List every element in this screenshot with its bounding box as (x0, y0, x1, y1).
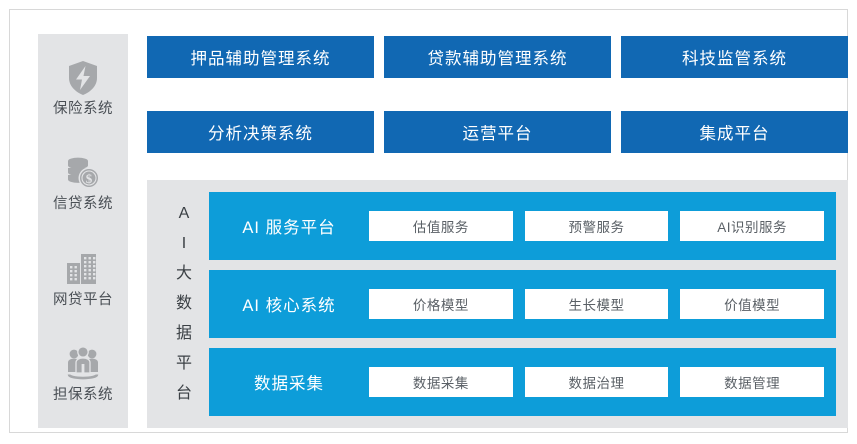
svg-text:$: $ (86, 171, 93, 186)
sidebar-item-label: 保险系统 (53, 102, 113, 118)
buildings-icon (63, 249, 103, 289)
vertical-char: 台 (176, 386, 192, 402)
sidebar-item-insurance[interactable]: 保险系统 (38, 58, 128, 118)
ai-platform-rows: AI 服务平台 估值服务 预警服务 AI识别服务 AI 核心系统 价格模型 生长… (209, 192, 836, 416)
system-button-collateral-aux-mgmt[interactable]: 押品辅助管理系统 (147, 36, 374, 78)
system-button-tech-supervision[interactable]: 科技监管系统 (621, 36, 848, 78)
ai-row-core-system[interactable]: AI 核心系统 价格模型 生长模型 价值模型 (209, 270, 836, 338)
shield-bolt-icon (63, 58, 103, 98)
ai-row-title: AI 服务平台 (209, 214, 369, 238)
sidebar: 保险系统 $ (38, 34, 128, 428)
system-button-loan-aux-mgmt[interactable]: 贷款辅助管理系统 (384, 36, 611, 78)
ai-row-box-group: 价格模型 生长模型 价值模型 (369, 289, 824, 319)
vertical-char: 大 (176, 266, 192, 282)
ai-sub-box-ai-recognition-service[interactable]: AI识别服务 (680, 211, 824, 241)
coin-stack-icon: $ (63, 153, 103, 193)
ai-sub-box-growth-model[interactable]: 生长模型 (525, 289, 669, 319)
sidebar-item-label: 信贷系统 (53, 197, 113, 213)
sidebar-item-credit[interactable]: $ 信贷系统 (38, 153, 128, 213)
ai-sub-box-data-governance[interactable]: 数据治理 (525, 367, 669, 397)
architecture-diagram: 保险系统 $ (0, 0, 857, 444)
ai-row-service-platform[interactable]: AI 服务平台 估值服务 预警服务 AI识别服务 (209, 192, 836, 260)
vertical-char: I (182, 236, 186, 252)
ai-platform-vertical-label: A I 大 数 据 平 台 (159, 192, 209, 416)
vertical-char: 数 (176, 296, 192, 312)
ai-sub-box-value-model[interactable]: 价值模型 (680, 289, 824, 319)
ai-row-title: 数据采集 (209, 370, 369, 394)
system-button-operations-platform[interactable]: 运营平台 (384, 111, 611, 153)
sidebar-item-guarantee[interactable]: 担保系统 (38, 344, 128, 404)
ai-sub-box-data-collection[interactable]: 数据采集 (369, 367, 513, 397)
system-button-row-1: 押品辅助管理系统 贷款辅助管理系统 科技监管系统 (147, 36, 848, 78)
vertical-char: 平 (176, 356, 192, 372)
ai-row-data-collection[interactable]: 数据采集 数据采集 数据治理 数据管理 (209, 348, 836, 416)
sidebar-item-label: 网贷平台 (53, 293, 113, 309)
vertical-char: A (179, 206, 190, 222)
ai-row-box-group: 估值服务 预警服务 AI识别服务 (369, 211, 824, 241)
ai-sub-box-alert-service[interactable]: 预警服务 (525, 211, 669, 241)
ai-bigdata-platform-panel: A I 大 数 据 平 台 AI 服务平台 估值服务 预警服务 AI识别服务 (147, 180, 848, 428)
sidebar-item-label: 担保系统 (53, 388, 113, 404)
ai-row-title: AI 核心系统 (209, 292, 369, 316)
system-button-row-2: 分析决策系统 运营平台 集成平台 (147, 111, 848, 153)
system-button-integration-platform[interactable]: 集成平台 (621, 111, 848, 153)
system-button-analysis-decision[interactable]: 分析决策系统 (147, 111, 374, 153)
ai-sub-box-price-model[interactable]: 价格模型 (369, 289, 513, 319)
diagram-frame: 保险系统 $ (9, 9, 848, 433)
sidebar-item-online-loan[interactable]: 网贷平台 (38, 249, 128, 309)
ai-sub-box-valuation-service[interactable]: 估值服务 (369, 211, 513, 241)
vertical-char: 据 (176, 326, 192, 342)
ai-sub-box-data-management[interactable]: 数据管理 (680, 367, 824, 397)
people-group-icon (63, 344, 103, 384)
ai-row-box-group: 数据采集 数据治理 数据管理 (369, 367, 824, 397)
